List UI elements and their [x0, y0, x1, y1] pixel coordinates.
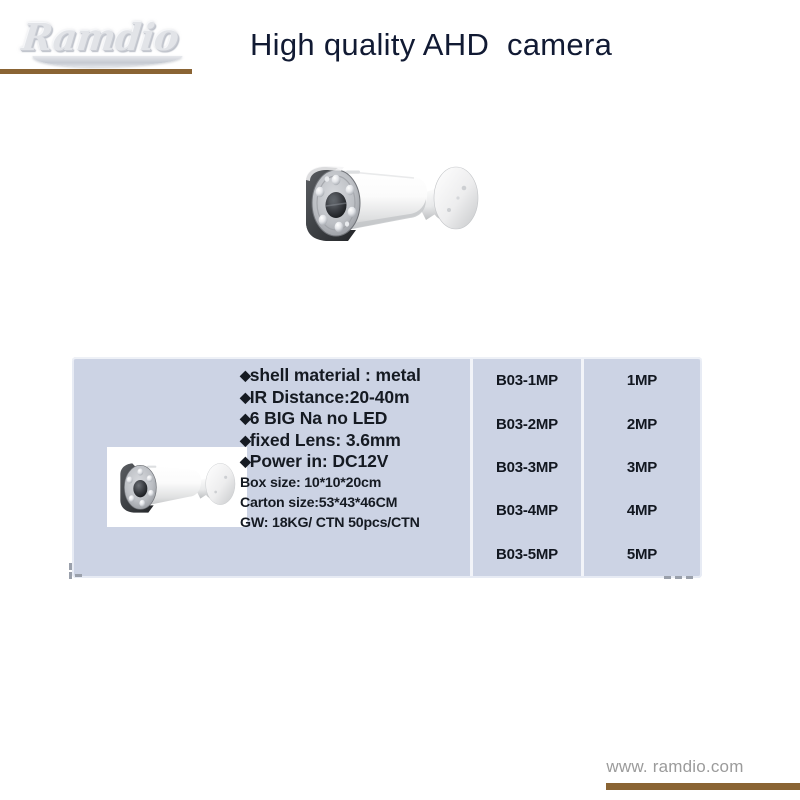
product-spec-table: ◆shell material : metal ◆IR Distance:20-…: [72, 357, 702, 578]
spec-item-text: Box size: 10*10*20cm: [240, 475, 381, 491]
diamond-bullet-icon: ◆: [240, 367, 250, 383]
hero-camera-image: [286, 150, 496, 255]
resolution-value: 2MP: [627, 416, 657, 433]
table-column-resolutions: 1MP 2MP 3MP 4MP 5MP: [584, 359, 700, 576]
model-number: B03-5MP: [496, 546, 558, 563]
diamond-bullet-icon: ◆: [240, 410, 250, 426]
resize-handle-bottom-right-a[interactable]: [664, 576, 671, 579]
diamond-bullet-icon: ◆: [240, 432, 250, 448]
header-accent-rule: [0, 69, 192, 74]
spec-item: ◆IR Distance:20-40m: [240, 387, 468, 409]
spec-item: Carton size:53*43*46CM: [240, 493, 468, 513]
spec-item: Box size: 10*10*20cm: [240, 473, 468, 493]
page-title: High quality AHD camera: [250, 27, 710, 63]
table-row: B03-4MP: [473, 489, 581, 532]
model-number: B03-2MP: [496, 416, 558, 433]
spec-item-text: IR Distance:20-40m: [250, 387, 410, 407]
camera-illustration: [286, 150, 496, 255]
diamond-bullet-icon: ◆: [240, 389, 250, 405]
resize-handle-bottom-left-b[interactable]: [69, 572, 72, 579]
resolution-value: 4MP: [627, 502, 657, 519]
brand-logo: Ramdio: [22, 12, 192, 68]
spec-item: ◆fixed Lens: 3.6mm: [240, 430, 468, 452]
spec-item-text: Power in: DC12V: [250, 451, 389, 471]
brand-logo-swoosh-icon: [31, 56, 182, 67]
spec-item-text: GW: 18KG/ CTN 50pcs/CTN: [240, 515, 420, 531]
spec-item-text: fixed Lens: 3.6mm: [250, 430, 401, 450]
table-row: 3MP: [584, 446, 700, 489]
model-number: B03-1MP: [496, 372, 558, 389]
resolution-value: 3MP: [627, 459, 657, 476]
table-row: 5MP: [584, 533, 700, 576]
resize-handle-bottom-left-a[interactable]: [69, 563, 72, 570]
table-row: B03-5MP: [473, 533, 581, 576]
footer-accent-rule: [606, 783, 800, 790]
table-row: B03-3MP: [473, 446, 581, 489]
table-row: B03-1MP: [473, 359, 581, 402]
model-number: B03-4MP: [496, 502, 558, 519]
resize-handle-bottom-right-c[interactable]: [686, 576, 693, 579]
resize-handle-bottom-left-c[interactable]: [75, 574, 82, 577]
spec-item-text: Carton size:53*43*46CM: [240, 495, 397, 511]
spec-item: ◆shell material : metal: [240, 365, 468, 387]
spec-item: ◆Power in: DC12V: [240, 451, 468, 473]
spec-item: ◆6 BIG Na no LED: [240, 408, 468, 430]
camera-thumbnail-image: [107, 447, 247, 527]
spec-item-text: 6 BIG Na no LED: [250, 408, 388, 428]
resolution-value: 5MP: [627, 546, 657, 563]
table-row: 1MP: [584, 359, 700, 402]
model-number: B03-3MP: [496, 459, 558, 476]
footer-website-url[interactable]: www. ramdio.com: [560, 757, 790, 777]
spec-item-text: shell material : metal: [250, 365, 421, 385]
resolution-value: 1MP: [627, 372, 657, 389]
table-column-model-numbers: B03-1MP B03-2MP B03-3MP B03-4MP B03-5MP: [473, 359, 581, 576]
table-row: 2MP: [584, 402, 700, 445]
table-cell-specifications: ◆shell material : metal ◆IR Distance:20-…: [240, 365, 468, 570]
resize-handle-bottom-right-b[interactable]: [675, 576, 682, 579]
spec-item: GW: 18KG/ CTN 50pcs/CTN: [240, 513, 468, 533]
table-row: B03-2MP: [473, 402, 581, 445]
diamond-bullet-icon: ◆: [240, 453, 250, 469]
camera-thumbnail-illustration: [107, 447, 247, 527]
table-row: 4MP: [584, 489, 700, 532]
